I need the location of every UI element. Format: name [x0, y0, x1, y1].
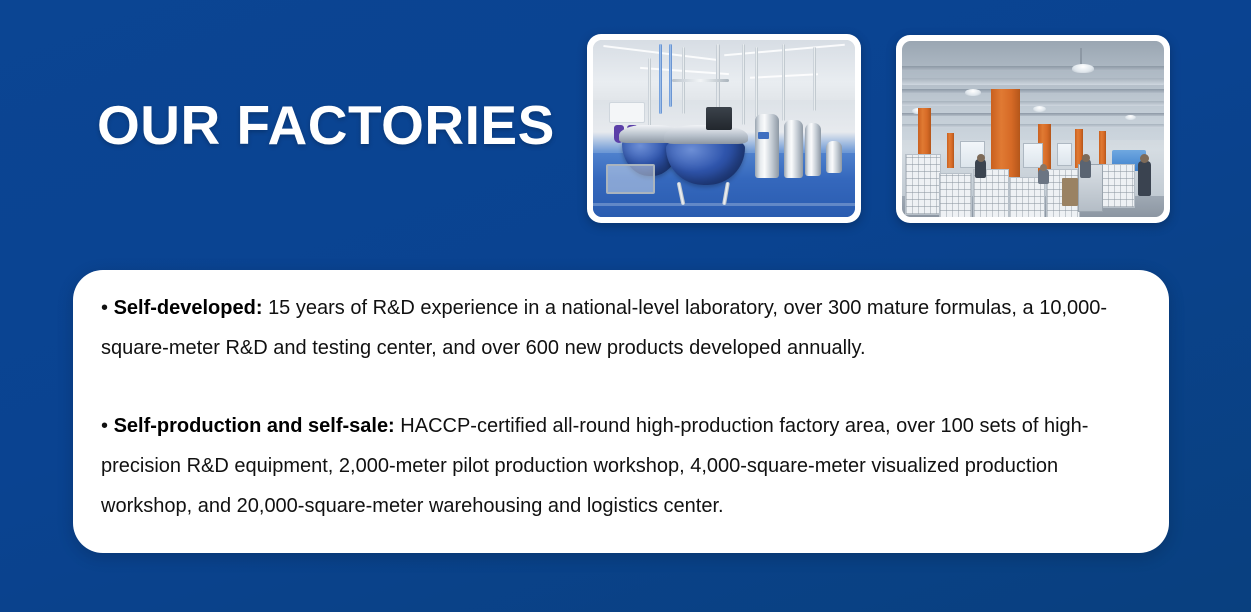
vertical-pipe-blue: [659, 44, 662, 115]
cardboard-box: [1062, 178, 1078, 206]
slide-canvas: OUR FACTORIES: [0, 0, 1251, 612]
worker: [1138, 161, 1151, 196]
vertical-pipe: [813, 47, 816, 111]
ceiling-lamp: [1033, 106, 1046, 112]
worker: [1080, 159, 1090, 178]
bullet-marker: •: [101, 297, 108, 319]
worker-head: [977, 154, 985, 162]
warehouse-scene-illustration: [902, 41, 1164, 217]
storage-tank: [805, 123, 821, 176]
worker: [975, 159, 985, 178]
worker-head: [1040, 164, 1047, 171]
worker: [1038, 169, 1048, 183]
carton-pallet: [1101, 164, 1134, 208]
control-box: [706, 107, 732, 130]
photo-factory-production-lab: [587, 34, 861, 223]
ceiling-lamp: [1072, 64, 1094, 73]
storage-tank: [784, 120, 802, 178]
ceiling-duct: [902, 78, 1164, 85]
background-window: [1023, 143, 1043, 168]
vertical-pipe: [782, 44, 785, 122]
ceiling-beam: [902, 89, 1164, 93]
worker-head: [1082, 154, 1090, 162]
photo-factory-warehouse: [896, 35, 1170, 223]
orange-pillar: [947, 133, 955, 168]
ceiling-beam: [902, 66, 1164, 71]
tank-label: [758, 132, 768, 139]
bullet-label-self-developed: Self-developed:: [114, 297, 263, 319]
bullet-item-self-developed: • Self-developed: 15 years of R&D experi…: [101, 288, 1143, 368]
carton-pallet: [905, 154, 941, 216]
carton-pallet: [939, 173, 972, 217]
ceiling-duct: [902, 124, 1164, 128]
bullet-marker: •: [101, 415, 108, 437]
vertical-pipe: [742, 44, 745, 125]
photo-inner: [593, 40, 855, 217]
lab-scene-illustration: [593, 40, 855, 217]
storage-tank: [755, 114, 779, 178]
wall-notice-panel: [609, 102, 645, 123]
ceiling-lamp: [965, 89, 981, 96]
background-window: [1057, 143, 1072, 166]
orange-pillar: [1099, 131, 1107, 166]
ceiling-lamp: [1125, 115, 1136, 120]
bullet-label-self-production: Self-production and self-sale:: [114, 415, 395, 437]
ceiling-duct: [902, 101, 1164, 106]
bullet-item-self-production: • Self-production and self-sale: HACCP-c…: [101, 406, 1143, 526]
lamp-stem: [1080, 48, 1082, 64]
stainless-cart: [606, 164, 655, 195]
vertical-pipe-blue: [669, 44, 672, 108]
info-card: • Self-developed: 15 years of R&D experi…: [73, 270, 1169, 553]
page-title: OUR FACTORIES: [97, 97, 555, 155]
vertical-pipe: [755, 47, 758, 118]
photo-inner: [902, 41, 1164, 217]
worker-head: [1140, 154, 1149, 163]
horizontal-pipe: [672, 79, 730, 82]
small-vessel: [826, 141, 842, 173]
